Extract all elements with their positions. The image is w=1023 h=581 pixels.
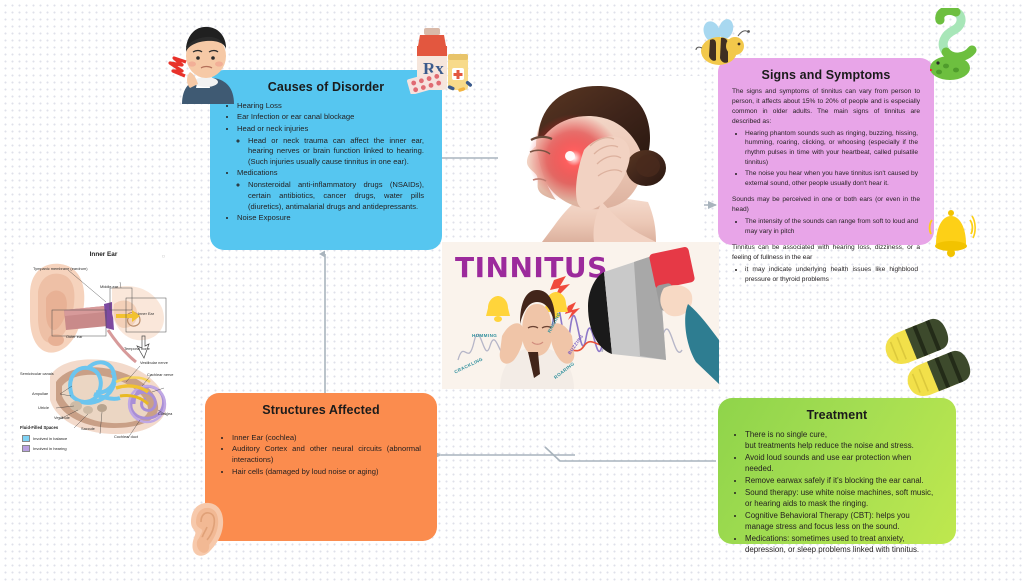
legend-row: Involved in hearing (22, 445, 67, 452)
list-item-label: Noise Exposure (237, 213, 291, 222)
card-signs-and-symptoms[interactable]: Signs and Symptoms The signs and symptom… (718, 58, 934, 245)
list-item: Inner Ear (cochlea) (232, 433, 423, 444)
card-structures-affected[interactable]: Structures Affected Inner Ear (cochlea) … (205, 393, 437, 541)
list-item: Ear Infection or ear canal blockage (237, 112, 428, 123)
list-item: Medications: sometimes used to treat anx… (745, 533, 942, 555)
causes-list: Hearing Loss Ear Infection or ear canal … (237, 101, 428, 224)
list-item: The intensity of the sounds can range fr… (745, 217, 920, 237)
list-item: it may indicate underlying health issues… (745, 265, 920, 285)
anatomy-label: Ampullae (32, 391, 48, 396)
legend-swatch-balance (22, 435, 30, 442)
card-causes-of-disorder[interactable]: Causes of Disorder Hearing Loss Ear Infe… (210, 70, 442, 250)
list-item: There is no single cure, but treatments … (745, 429, 942, 451)
anatomy-label: Cochlea (158, 411, 172, 416)
list-item: Cognitive Behavioral Therapy (CBT): help… (745, 510, 942, 532)
hero-banner: TINNITUS HUMMING CR (442, 242, 719, 389)
card-signs-title: Signs and Symptoms (732, 68, 920, 82)
card-treatment-title: Treatment (732, 408, 942, 422)
legend-title: Fluid-Filled Spaces (20, 425, 58, 430)
signs-paragraph: Sounds may be perceived in one or both e… (732, 195, 920, 215)
hero-illustration (442, 242, 719, 389)
anatomy-label: Tympanic membrane (eardrum) (33, 266, 88, 271)
card-causes-title: Causes of Disorder (224, 80, 428, 94)
legend-swatch-hearing (22, 445, 30, 452)
anatomy-label: Vestibular nerve (140, 360, 168, 365)
anatomy-label: Middle ear (100, 284, 118, 289)
hero-sound-word: HUMMING (472, 333, 497, 338)
anatomy-label: Temporal bone (124, 346, 150, 351)
list-item: Head or neck injuries Head or neck traum… (237, 124, 428, 168)
anatomy-label: Cochlear duct (114, 434, 138, 439)
list-item-label: Ear Infection or ear canal blockage (237, 112, 354, 121)
legend-label: Involved in hearing (33, 446, 67, 451)
structures-list: Inner Ear (cochlea) Auditory Cortex and … (232, 433, 423, 477)
card-treatment[interactable]: Treatment There is no single cure, but t… (718, 398, 956, 544)
list-item: Hearing phantom sounds such as ringing, … (745, 129, 920, 169)
list-item: Hair cells (damaged by loud noise or agi… (232, 467, 423, 478)
treatment-list: There is no single cure, but treatments … (745, 429, 942, 555)
list-item: Medications Nonsteroidal anti-inflammato… (237, 168, 428, 212)
card-structures-title: Structures Affected (219, 403, 423, 417)
anatomy-label: Inner Ear (138, 311, 154, 316)
anatomy-label: Saccule (81, 426, 95, 431)
list-item: Hearing Loss (237, 101, 428, 112)
diagram-source-mark: ▢ (162, 254, 165, 258)
anatomy-label: Semicircular canals (20, 371, 54, 376)
signs-paragraph: The signs and symptoms of tinnitus can v… (732, 87, 920, 127)
list-item: Avoid loud sounds and use ear protection… (745, 452, 942, 474)
anatomy-label: Outer ear (66, 334, 82, 339)
list-item: Sound therapy: use white noise machines,… (745, 487, 942, 509)
list-item: Auditory Cortex and other neural circuit… (232, 444, 423, 466)
signs-list-1: Hearing phantom sounds such as ringing, … (745, 129, 920, 189)
inner-ear-anatomy-diagram: Inner Ear (16, 248, 191, 456)
anatomy-label: Vestibule (54, 415, 70, 420)
anatomy-label: Cochlear nerve (147, 372, 173, 377)
list-item: The noise you hear when you have tinnitu… (745, 169, 920, 189)
anatomy-label: Utricle (38, 405, 49, 410)
legend-row: Involved in balance (22, 435, 67, 442)
list-subitem: Nonsteroidal anti-inflammatory drugs (NS… (248, 180, 426, 212)
woman-with-ear-pain-photo (498, 76, 704, 242)
causes-sublist: Head or neck trauma can affect the inner… (248, 136, 426, 168)
list-item-label: Head or neck injuries (237, 124, 308, 133)
list-item: Remove earwax safely if it's blocking th… (745, 475, 942, 486)
list-item-label: Hearing Loss (237, 101, 282, 110)
list-item: Noise Exposure (237, 213, 428, 224)
legend-label: Involved in balance (33, 436, 67, 441)
causes-sublist: Nonsteroidal anti-inflammatory drugs (NS… (248, 180, 426, 212)
signs-paragraph: Tinnitus can be associated with hearing … (732, 243, 920, 263)
list-item-label: Medications (237, 168, 278, 177)
signs-list-3: it may indicate underlying health issues… (745, 265, 920, 285)
list-subitem: Head or neck trauma can affect the inner… (248, 136, 426, 168)
signs-list-2: The intensity of the sounds can range fr… (745, 217, 920, 237)
